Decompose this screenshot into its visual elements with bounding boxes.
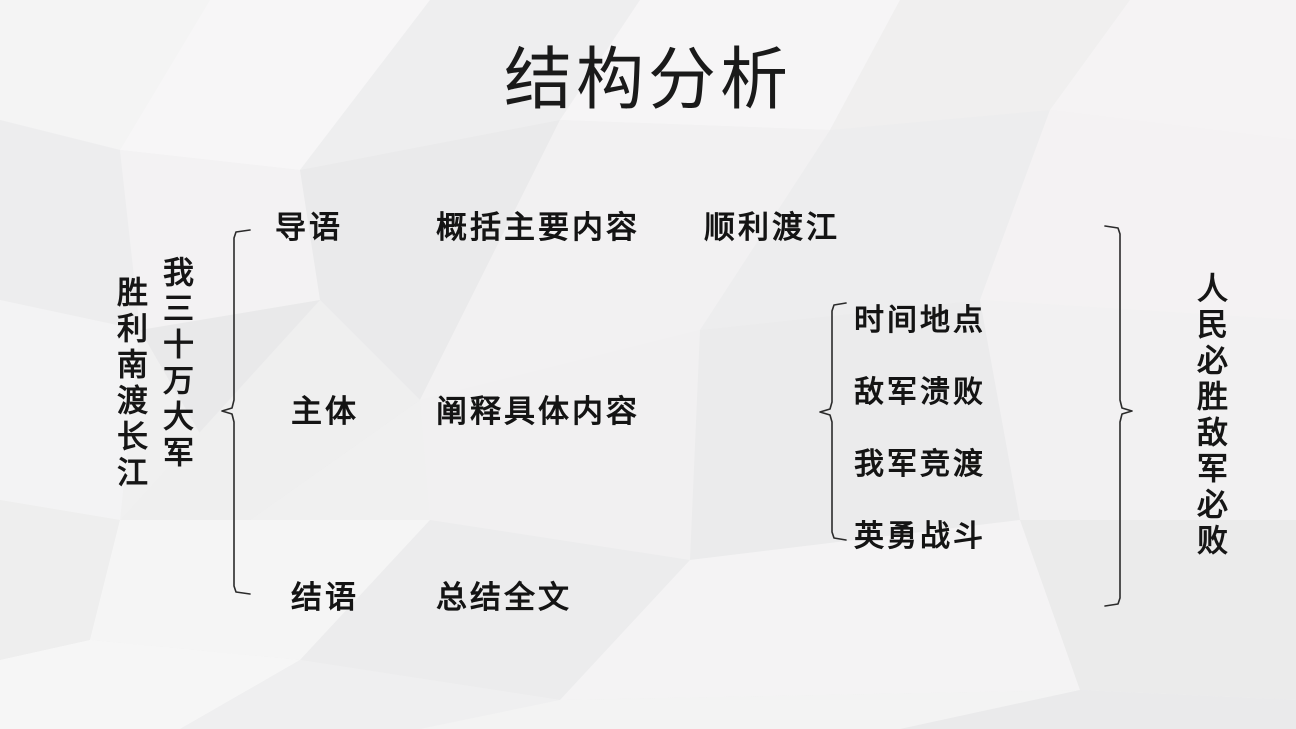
row-conclusion-description: 总结全文 <box>436 578 572 618</box>
body-detail-item-1: 时间地点 <box>854 302 986 340</box>
row-lead-description: 概括主要内容 <box>436 208 640 248</box>
body-detail-item-2: 敌军溃败 <box>854 374 986 412</box>
row-lead-result: 顺利渡江 <box>704 208 840 248</box>
left-brace <box>222 230 250 594</box>
left-summary-group: 胜利南渡长江 我三十万大军 <box>112 256 192 492</box>
row-lead-key: 导语 <box>275 208 343 248</box>
row-conclusion-key: 结语 <box>291 578 359 618</box>
brace-connectors <box>0 0 1296 729</box>
right-conclusion-text: 人民必胜敌军必败 <box>1192 272 1226 560</box>
left-summary-column-2: 胜利南渡长江 <box>112 276 146 492</box>
middle-brace <box>820 303 846 540</box>
slide-canvas: 结构分析 胜利南渡长江 我三十万大军 导语 概括主要内容 顺利渡江 主体 阐释具… <box>0 0 1296 729</box>
body-detail-item-4: 英勇战斗 <box>854 518 986 556</box>
row-body-key: 主体 <box>291 392 359 432</box>
body-detail-item-3: 我军竞渡 <box>854 446 986 484</box>
row-body-description: 阐释具体内容 <box>436 392 640 432</box>
right-brace <box>1105 226 1132 606</box>
left-summary-column-1: 我三十万大军 <box>158 256 192 472</box>
